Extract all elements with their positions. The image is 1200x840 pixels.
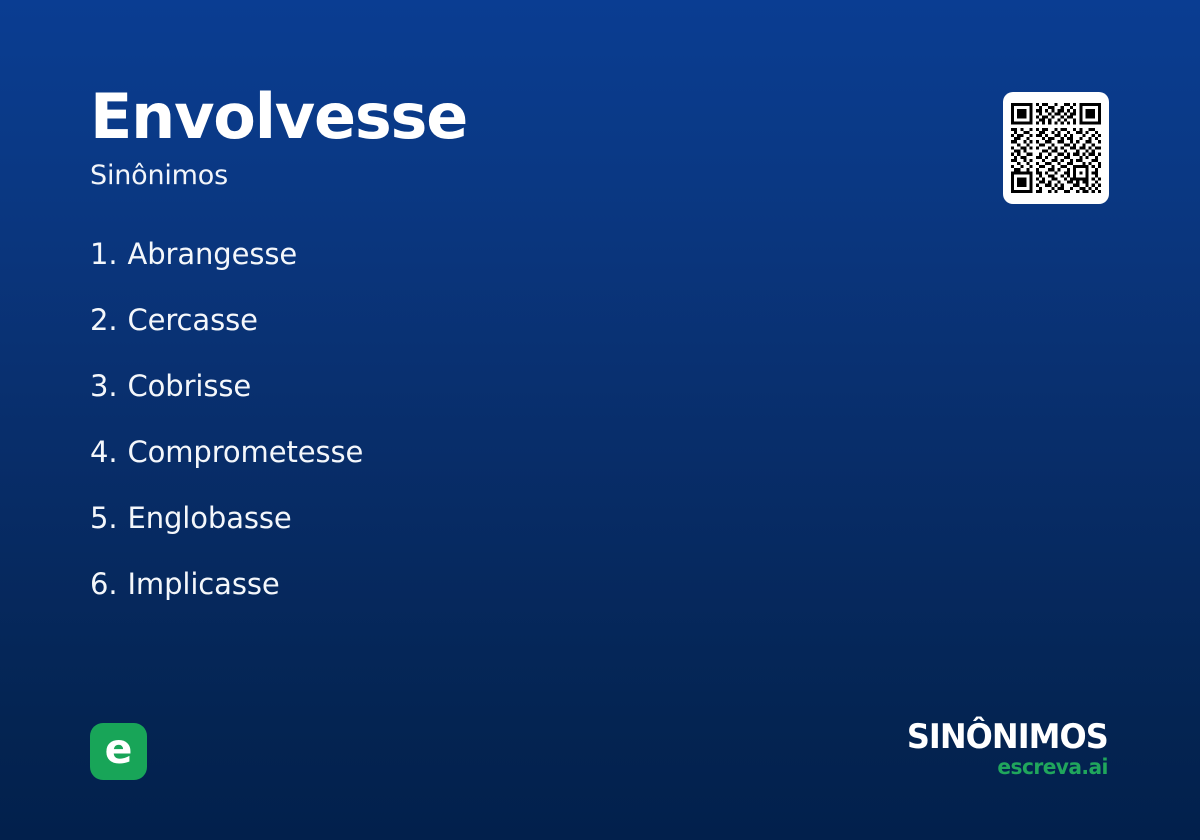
- list-item-index: 2.: [90, 300, 117, 340]
- list-item-word: Englobasse: [127, 498, 291, 538]
- page-title: Envolvesse: [90, 86, 850, 148]
- qr-code-card[interactable]: [1003, 92, 1109, 204]
- list-item-word: Comprometesse: [127, 432, 363, 472]
- list-item-index: 4.: [90, 432, 117, 472]
- list-item: 5. Englobasse: [90, 498, 890, 564]
- list-item: 3. Cobrisse: [90, 366, 890, 432]
- synonym-list: 1. Abrangesse 2. Cercasse 3. Cobrisse 4.…: [90, 234, 890, 630]
- list-item-word: Cobrisse: [127, 366, 251, 406]
- list-item: 4. Comprometesse: [90, 432, 890, 498]
- escreva-e-logo-icon[interactable]: e: [90, 723, 147, 780]
- list-item: 6. Implicasse: [90, 564, 890, 630]
- brand-logo-domain: escreva.ai: [903, 757, 1108, 778]
- list-item-index: 6.: [90, 564, 117, 604]
- list-item-index: 5.: [90, 498, 117, 538]
- qr-code-icon: [1011, 103, 1101, 193]
- list-item-index: 1.: [90, 234, 117, 274]
- list-item-word: Cercasse: [127, 300, 257, 340]
- list-item-index: 3.: [90, 366, 117, 406]
- brand-logo[interactable]: SINÔNIMOS escreva.ai: [894, 720, 1108, 778]
- list-item: 2. Cercasse: [90, 300, 890, 366]
- synonym-card: Envolvesse Sinônimos: [0, 0, 1200, 840]
- list-item-word: Implicasse: [127, 564, 279, 604]
- card-header: Envolvesse Sinônimos: [90, 86, 850, 189]
- list-item-word: Abrangesse: [127, 234, 297, 274]
- brand-mark-letter: e: [105, 729, 133, 770]
- list-item: 1. Abrangesse: [90, 234, 890, 300]
- page-subtitle: Sinônimos: [90, 162, 850, 189]
- brand-logo-title: SINÔNIMOS: [907, 720, 1108, 754]
